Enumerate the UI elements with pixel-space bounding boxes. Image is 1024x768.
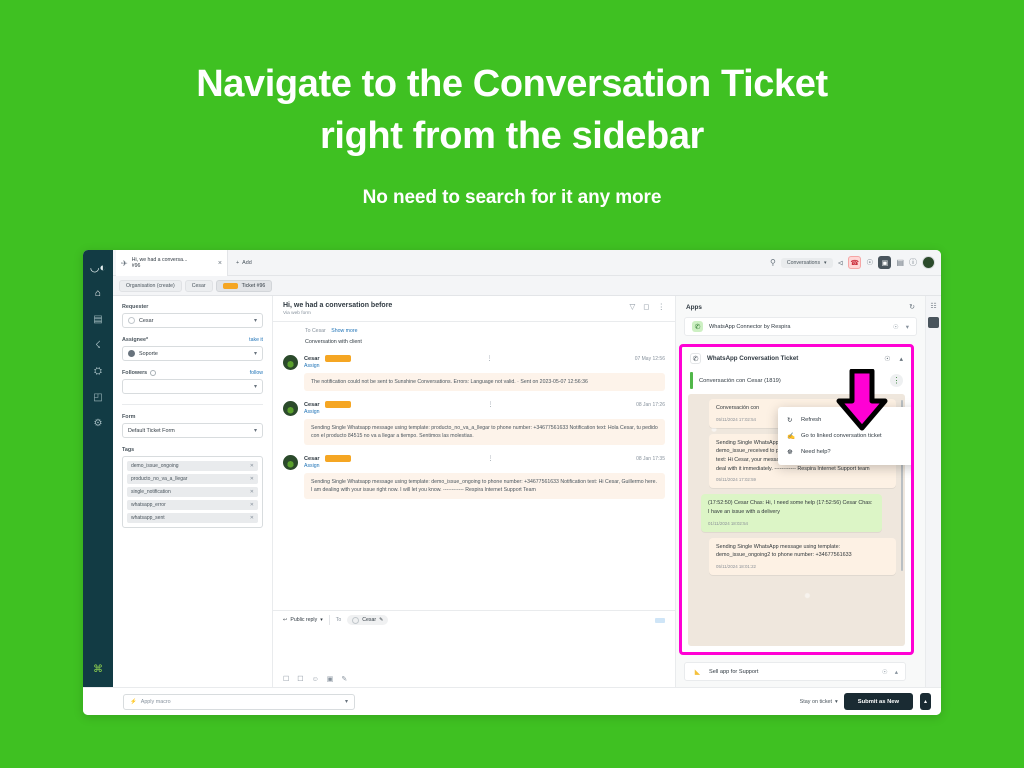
filter-icon[interactable]: ▽ — [629, 302, 635, 311]
form-label-row: Form — [122, 414, 263, 420]
chat-timestamp: 01/11/2024 18:02:54 — [708, 520, 875, 527]
card-actions: ☉ ▴ — [884, 355, 903, 363]
assignee-label-row: Assignee* take it — [122, 337, 263, 343]
external-link-icon: ✍ — [787, 432, 795, 440]
followers-label: Followers — [122, 370, 147, 376]
chevron-down-icon: ▾ — [254, 427, 257, 434]
chat-bubble: Sending Single WhatsApp message using te… — [709, 538, 896, 575]
chat-timestamp: 05/11/2024 18:01:22 — [716, 563, 889, 570]
tags-label-row: Tags — [122, 447, 263, 453]
admin-gear-icon[interactable]: ⚙ — [83, 410, 113, 436]
message-header: Cesar ⋮ 08 Jan 17:26 — [304, 401, 665, 408]
chat-icon[interactable]: ⏿ — [838, 258, 844, 268]
requester-field: Requester Cesar ▾ — [122, 304, 263, 328]
tab-subtitle-text: #96 — [132, 263, 141, 269]
status-badge — [325, 355, 351, 362]
message-item: Cesar ⋮ 08 Jan 17:26 Assign Sending Sing… — [283, 401, 665, 445]
message-author: Cesar — [304, 402, 320, 408]
apps-tray-icon[interactable]: ⌘ — [83, 656, 113, 682]
pin-icon[interactable]: ☉ — [884, 355, 890, 363]
right-mini-rail: ☷ — [925, 296, 941, 687]
zendesk-logo-icon[interactable]: ◡◐ — [83, 254, 113, 280]
more-options-icon[interactable]: ⋮ — [487, 355, 493, 362]
tag-label: whatsapp_sent — [131, 515, 165, 521]
close-icon[interactable]: ✕ — [250, 502, 254, 508]
close-icon[interactable]: ✕ — [250, 463, 254, 469]
workspace: Requester Cesar ▾ Assignee* take it — [113, 296, 941, 687]
form-select[interactable]: Default Ticket Form ▾ — [122, 423, 263, 438]
assignee-label: Assignee* — [122, 337, 148, 343]
reply-channel-label: Public reply — [290, 617, 317, 623]
headline-line-1: Navigate to the Conversation Ticket — [0, 58, 1024, 110]
whatsapp-icon: ✆ — [692, 321, 703, 332]
message-main: Cesar ⋮ 07 May 12:56 Assign The notifica… — [304, 355, 665, 391]
home-icon[interactable]: ⌂ — [83, 280, 113, 306]
message-main: Cesar ⋮ 08 Jan 17:35 Assign Sending Sing… — [304, 455, 665, 499]
status-badge — [325, 401, 351, 408]
form-value: Default Ticket Form — [128, 428, 175, 434]
app-name: WhatsApp Connector by Respira — [709, 324, 790, 330]
tag-item[interactable]: whatsapp_error ✕ — [127, 500, 258, 510]
add-tab-button[interactable]: + Add — [228, 250, 260, 275]
submit-dropdown-caret[interactable]: ▴ — [920, 693, 931, 710]
apps-panel: Apps ↻ ✆ WhatsApp Connector by Respira ☉… — [675, 296, 925, 687]
conversation-body: To Cesar Show more Conversation with cli… — [273, 322, 675, 610]
requester-value: Cesar — [139, 318, 153, 324]
subheadline: No need to search for it any more — [0, 187, 1024, 209]
card-title: WhatsApp Conversation Ticket — [707, 355, 798, 362]
conversation-label: Conversación con Cesar (1819) — [699, 378, 781, 384]
composer-to-label: To — [336, 617, 341, 623]
reporting-icon[interactable]: ◰ — [83, 384, 113, 410]
pin-icon[interactable]: ☉ — [893, 323, 899, 331]
app-row-sell[interactable]: ◣ Sell app for Support ☉ ▴ — [684, 662, 906, 681]
show-more-link[interactable]: Show more — [331, 328, 357, 334]
apps-title: Apps — [686, 304, 702, 311]
close-icon[interactable]: × — [218, 260, 222, 267]
collapse-icon[interactable]: ◻ — [643, 302, 649, 311]
views-icon[interactable]: ▤ — [83, 306, 113, 332]
requester-label-row: Requester — [122, 304, 263, 310]
reply-channel-dropdown[interactable]: ↩ Public reply ▾ — [283, 617, 323, 623]
chevron-down-icon: ▾ — [254, 383, 257, 390]
footer-actions: Stay on ticket ▾ Submit as New ▴ — [800, 693, 931, 710]
apps-header: Apps ↻ — [676, 296, 925, 317]
whatsapp-ticket-icon: ✆ — [690, 353, 701, 364]
search-icon[interactable]: ⚲ — [770, 258, 776, 267]
to-line: To Cesar Show more — [305, 328, 665, 334]
macro-placeholder: Apply macro — [141, 699, 171, 705]
message-main: Cesar ⋮ 08 Jan 17:26 Assign Sending Sing… — [304, 401, 665, 445]
conversation-header-actions: ▽ ◻ ⋮ — [629, 302, 665, 311]
message-item: Cesar ⋮ 07 May 12:56 Assign The notifica… — [283, 355, 665, 391]
message-author: Cesar — [304, 356, 320, 362]
breadcrumb-organisation[interactable]: Organisation (create) — [119, 280, 182, 292]
message-body: The notification could not be sent to Su… — [304, 373, 665, 391]
tag-label: producto_no_va_a_llegar — [131, 476, 187, 482]
chevron-up-icon[interactable]: ▴ — [895, 668, 898, 676]
message-timestamp: 08 Jan 17:35 — [636, 456, 665, 462]
message-body: Sending Single Whatsapp message using te… — [304, 419, 665, 445]
chevron-down-icon[interactable]: ▾ — [906, 323, 909, 331]
tag-item[interactable]: single_notification ✕ — [127, 487, 258, 497]
composer-toolbar: ↩ Public reply ▾ To Cesar ✎ — [273, 611, 675, 629]
tag-label: demo_issue_ongoing — [131, 463, 179, 469]
chat-timestamp: 05/11/2024 17:02:59 — [716, 476, 889, 483]
edit-icon[interactable]: ✎ — [379, 617, 383, 623]
sell-icon: ◣ — [692, 666, 703, 677]
chevron-down-icon: ▾ — [345, 698, 348, 705]
main-column: ✈ Hi, we had a conversa... #96 × + Add ⚲… — [113, 250, 941, 687]
status-badge — [223, 283, 238, 289]
menu-item-label: Go to linked conversation ticket — [801, 433, 882, 439]
kebab-menu-icon[interactable]: ⋮ — [890, 374, 903, 387]
followers-label-row: Followers follow — [122, 370, 263, 376]
conversation-header: Hi, we had a conversation before Via web… — [273, 296, 675, 322]
to-prefix: To — [305, 328, 310, 334]
more-options-icon[interactable]: ⋮ — [658, 302, 666, 311]
chat-bubble: (17:52:50) Cesar Chas: Hi, I need some h… — [701, 494, 882, 531]
reply-textarea[interactable] — [273, 629, 675, 671]
assign-link[interactable]: Assign — [304, 463, 665, 469]
breadcrumb: Organisation (create) Cesar Ticket #96 — [113, 276, 941, 296]
chat-text: Sending Single WhatsApp message using te… — [716, 543, 889, 560]
reply-icon: ↩ — [283, 617, 287, 623]
more-options-icon[interactable]: ⋮ — [487, 401, 493, 408]
cc-button[interactable] — [655, 618, 665, 623]
slide-headline-block: Navigate to the Conversation Ticket righ… — [0, 58, 1024, 209]
macro-icon: ⚡ — [130, 699, 137, 705]
reply-composer: ↩ Public reply ▾ To Cesar ✎ — [273, 610, 675, 687]
composer-recipient[interactable]: Cesar ✎ — [347, 615, 388, 625]
first-message-text: Conversation with client — [305, 339, 665, 345]
form-field: Form Default Ticket Form ▾ — [122, 414, 263, 438]
app-row-actions: ☉ ▴ — [882, 668, 898, 676]
chevron-down-icon: ▾ — [254, 317, 257, 324]
notifications-bell-icon[interactable]: ☉ — [866, 258, 873, 267]
attachment-icon[interactable]: ☐ — [283, 675, 289, 683]
close-icon[interactable]: ✕ — [250, 515, 254, 521]
menu-item-label: Refresh — [801, 417, 821, 423]
apps-icon[interactable]: ▣ — [878, 256, 891, 269]
conversation-subtitle: Via web form — [283, 311, 392, 316]
tag-label: whatsapp_error — [131, 502, 166, 508]
tags-field: Tags demo_issue_ongoing ✕ producto_no_va… — [122, 447, 263, 528]
stay-on-ticket-label: Stay on ticket — [800, 699, 832, 705]
message-timestamp: 08 Jan 17:26 — [636, 402, 665, 408]
help-circle-icon: ☸ — [787, 448, 795, 456]
ticket-footer: ⚡ Apply macro ▾ Stay on ticket ▾ Submit … — [83, 687, 941, 715]
customers-icon[interactable]: ☇ — [83, 332, 113, 358]
more-options-icon[interactable]: ⋮ — [487, 455, 493, 462]
rail-bottom-group: ⌘ — [83, 656, 113, 687]
refresh-icon[interactable]: ↻ — [909, 303, 915, 311]
tab-title-text: Hi, we had a conversa... — [132, 257, 188, 263]
pink-arrow-annotation — [836, 369, 888, 431]
left-nav-rail: ◡◐ ⌂ ▤ ☇ ⛭ ◰ ⚙ ⌘ — [83, 250, 113, 687]
message-body: Sending Single Whatsapp message using te… — [304, 473, 665, 499]
avatar — [283, 355, 298, 370]
help-icon[interactable]: ⓘ — [909, 257, 917, 268]
chevron-down-icon: ▾ — [320, 617, 323, 623]
submit-button[interactable]: Submit as New — [844, 693, 913, 710]
recipient-label: Cesar — [362, 617, 376, 623]
info-icon[interactable] — [150, 370, 156, 376]
tab-bar-actions: ⚲ Conversations ▾ ⏿ ☎ ☉ ▣ ▤ ⓘ — [770, 250, 941, 275]
organizations-icon[interactable]: ⛭ — [83, 358, 113, 384]
whatsapp-conversation-ticket-card: ✆ WhatsApp Conversation Ticket ☉ ▴ Conve… — [679, 344, 914, 655]
tags-label: Tags — [122, 447, 134, 453]
tag-item[interactable]: demo_issue_ongoing ✕ — [127, 461, 258, 471]
app-row-whatsapp-connector[interactable]: ✆ WhatsApp Connector by Respira ☉ ▾ — [684, 317, 917, 336]
menu-item-label: Need help? — [801, 449, 831, 455]
app-screenshot: ◡◐ ⌂ ▤ ☇ ⛭ ◰ ⚙ ⌘ ✈ Hi, we had a conversa… — [83, 250, 941, 715]
refresh-icon: ↻ — [787, 416, 795, 424]
follow-link[interactable]: follow — [250, 370, 263, 376]
tab-bar: ✈ Hi, we had a conversa... #96 × + Add ⚲… — [113, 250, 941, 276]
tab-title: Hi, we had a conversa... #96 — [132, 257, 188, 270]
app-name: Sell app for Support — [709, 669, 758, 675]
message-author: Cesar — [304, 456, 320, 462]
headline: Navigate to the Conversation Ticket righ… — [0, 58, 1024, 163]
menu-item-need-help[interactable]: ☸ Need help? — [778, 444, 914, 460]
emoji-icon[interactable]: ☺ — [312, 676, 319, 683]
assignee-field: Assignee* take it Soporte ▾ — [122, 337, 263, 361]
followers-field: Followers follow ▾ — [122, 370, 263, 394]
chat-text: (17:52:50) Cesar Chas: Hi, I need some h… — [708, 499, 875, 516]
card-header: ✆ WhatsApp Conversation Ticket ☉ ▴ — [682, 347, 911, 369]
recipient-avatar — [352, 617, 359, 624]
form-label: Form — [122, 414, 135, 420]
knowledge-icon[interactable] — [928, 317, 939, 328]
ticket-icon: ✈ — [121, 259, 128, 268]
apply-macro-input[interactable]: ⚡ Apply macro ▾ — [123, 694, 355, 710]
message-header: Cesar ⋮ 07 May 12:56 — [304, 355, 665, 362]
assignee-avatar — [128, 350, 135, 357]
breadcrumb-cesar[interactable]: Cesar — [185, 280, 213, 292]
tags-box[interactable]: demo_issue_ongoing ✕ producto_no_va_a_ll… — [122, 456, 263, 528]
tag-item[interactable]: producto_no_va_a_llegar ✕ — [127, 474, 258, 484]
to-value: Cesar — [312, 328, 326, 334]
grid-icon[interactable]: ▤ — [896, 258, 904, 267]
customer-context-icon[interactable]: ☷ — [930, 302, 936, 310]
tab-ticket-96[interactable]: ✈ Hi, we had a conversa... #96 × — [116, 250, 228, 276]
breadcrumb-ticket-label: Ticket #96 — [242, 283, 266, 289]
message-header: Cesar ⋮ 08 Jan 17:35 — [304, 455, 665, 462]
properties-divider — [122, 404, 263, 405]
headline-line-2: right from the sidebar — [0, 110, 1024, 162]
add-tab-label: Add — [242, 260, 252, 266]
tag-label: single_notification — [131, 489, 171, 495]
take-it-link[interactable]: take it — [249, 337, 263, 343]
composer-tools: ☐ ☐ ☺ ▣ ✎ — [273, 671, 675, 687]
plus-icon: + — [236, 260, 239, 266]
conversation-panel: Hi, we had a conversation before Via web… — [273, 296, 675, 687]
link-icon[interactable]: ☐ — [297, 675, 303, 683]
requester-select[interactable]: Cesar ▾ — [122, 313, 263, 328]
close-icon[interactable]: ✕ — [250, 489, 254, 495]
image-icon[interactable]: ▣ — [327, 675, 334, 683]
breadcrumb-ticket[interactable]: Ticket #96 — [216, 280, 273, 292]
assign-link[interactable]: Assign — [304, 363, 665, 369]
requester-label: Requester — [122, 304, 148, 310]
avatar[interactable] — [922, 256, 935, 269]
followers-select[interactable]: ▾ — [122, 379, 263, 394]
message-item: Cesar ⋮ 08 Jan 17:35 Assign Sending Sing… — [283, 455, 665, 499]
chevron-up-icon[interactable]: ▴ — [899, 355, 903, 363]
conversation-header-text: Hi, we had a conversation before Via web… — [283, 302, 392, 316]
message-timestamp: 07 May 12:56 — [635, 356, 665, 362]
conversations-dropdown[interactable]: Conversations ▾ — [781, 258, 833, 268]
ticket-properties-panel: Requester Cesar ▾ Assignee* take it — [113, 296, 273, 687]
close-icon[interactable]: ✕ — [250, 476, 254, 482]
avatar — [283, 455, 298, 470]
app-row-actions: ☉ ▾ — [893, 323, 909, 331]
status-badge — [325, 455, 351, 462]
status-bar — [690, 372, 693, 389]
assign-link[interactable]: Assign — [304, 409, 665, 415]
assignee-value: Soporte — [139, 351, 158, 357]
pin-icon[interactable]: ☉ — [882, 668, 888, 676]
conversations-label: Conversations — [787, 260, 820, 266]
divider — [329, 615, 330, 625]
tag-item[interactable]: whatsapp_sent ✕ — [127, 513, 258, 523]
chevron-down-icon: ▾ — [824, 260, 827, 266]
page-title: Hi, we had a conversation before — [283, 302, 392, 309]
stay-on-ticket-dropdown[interactable]: Stay on ticket ▾ — [800, 699, 838, 705]
avatar — [283, 401, 298, 416]
edit-icon[interactable]: ✎ — [341, 675, 347, 683]
app-window: ◡◐ ⌂ ▤ ☇ ⛭ ◰ ⚙ ⌘ ✈ Hi, we had a conversa… — [83, 250, 941, 687]
chevron-down-icon: ▾ — [835, 699, 838, 705]
requester-avatar — [128, 317, 135, 324]
assignee-select[interactable]: Soporte ▾ — [122, 346, 263, 361]
talk-icon[interactable]: ☎ — [848, 256, 861, 269]
chevron-down-icon: ▾ — [254, 350, 257, 357]
